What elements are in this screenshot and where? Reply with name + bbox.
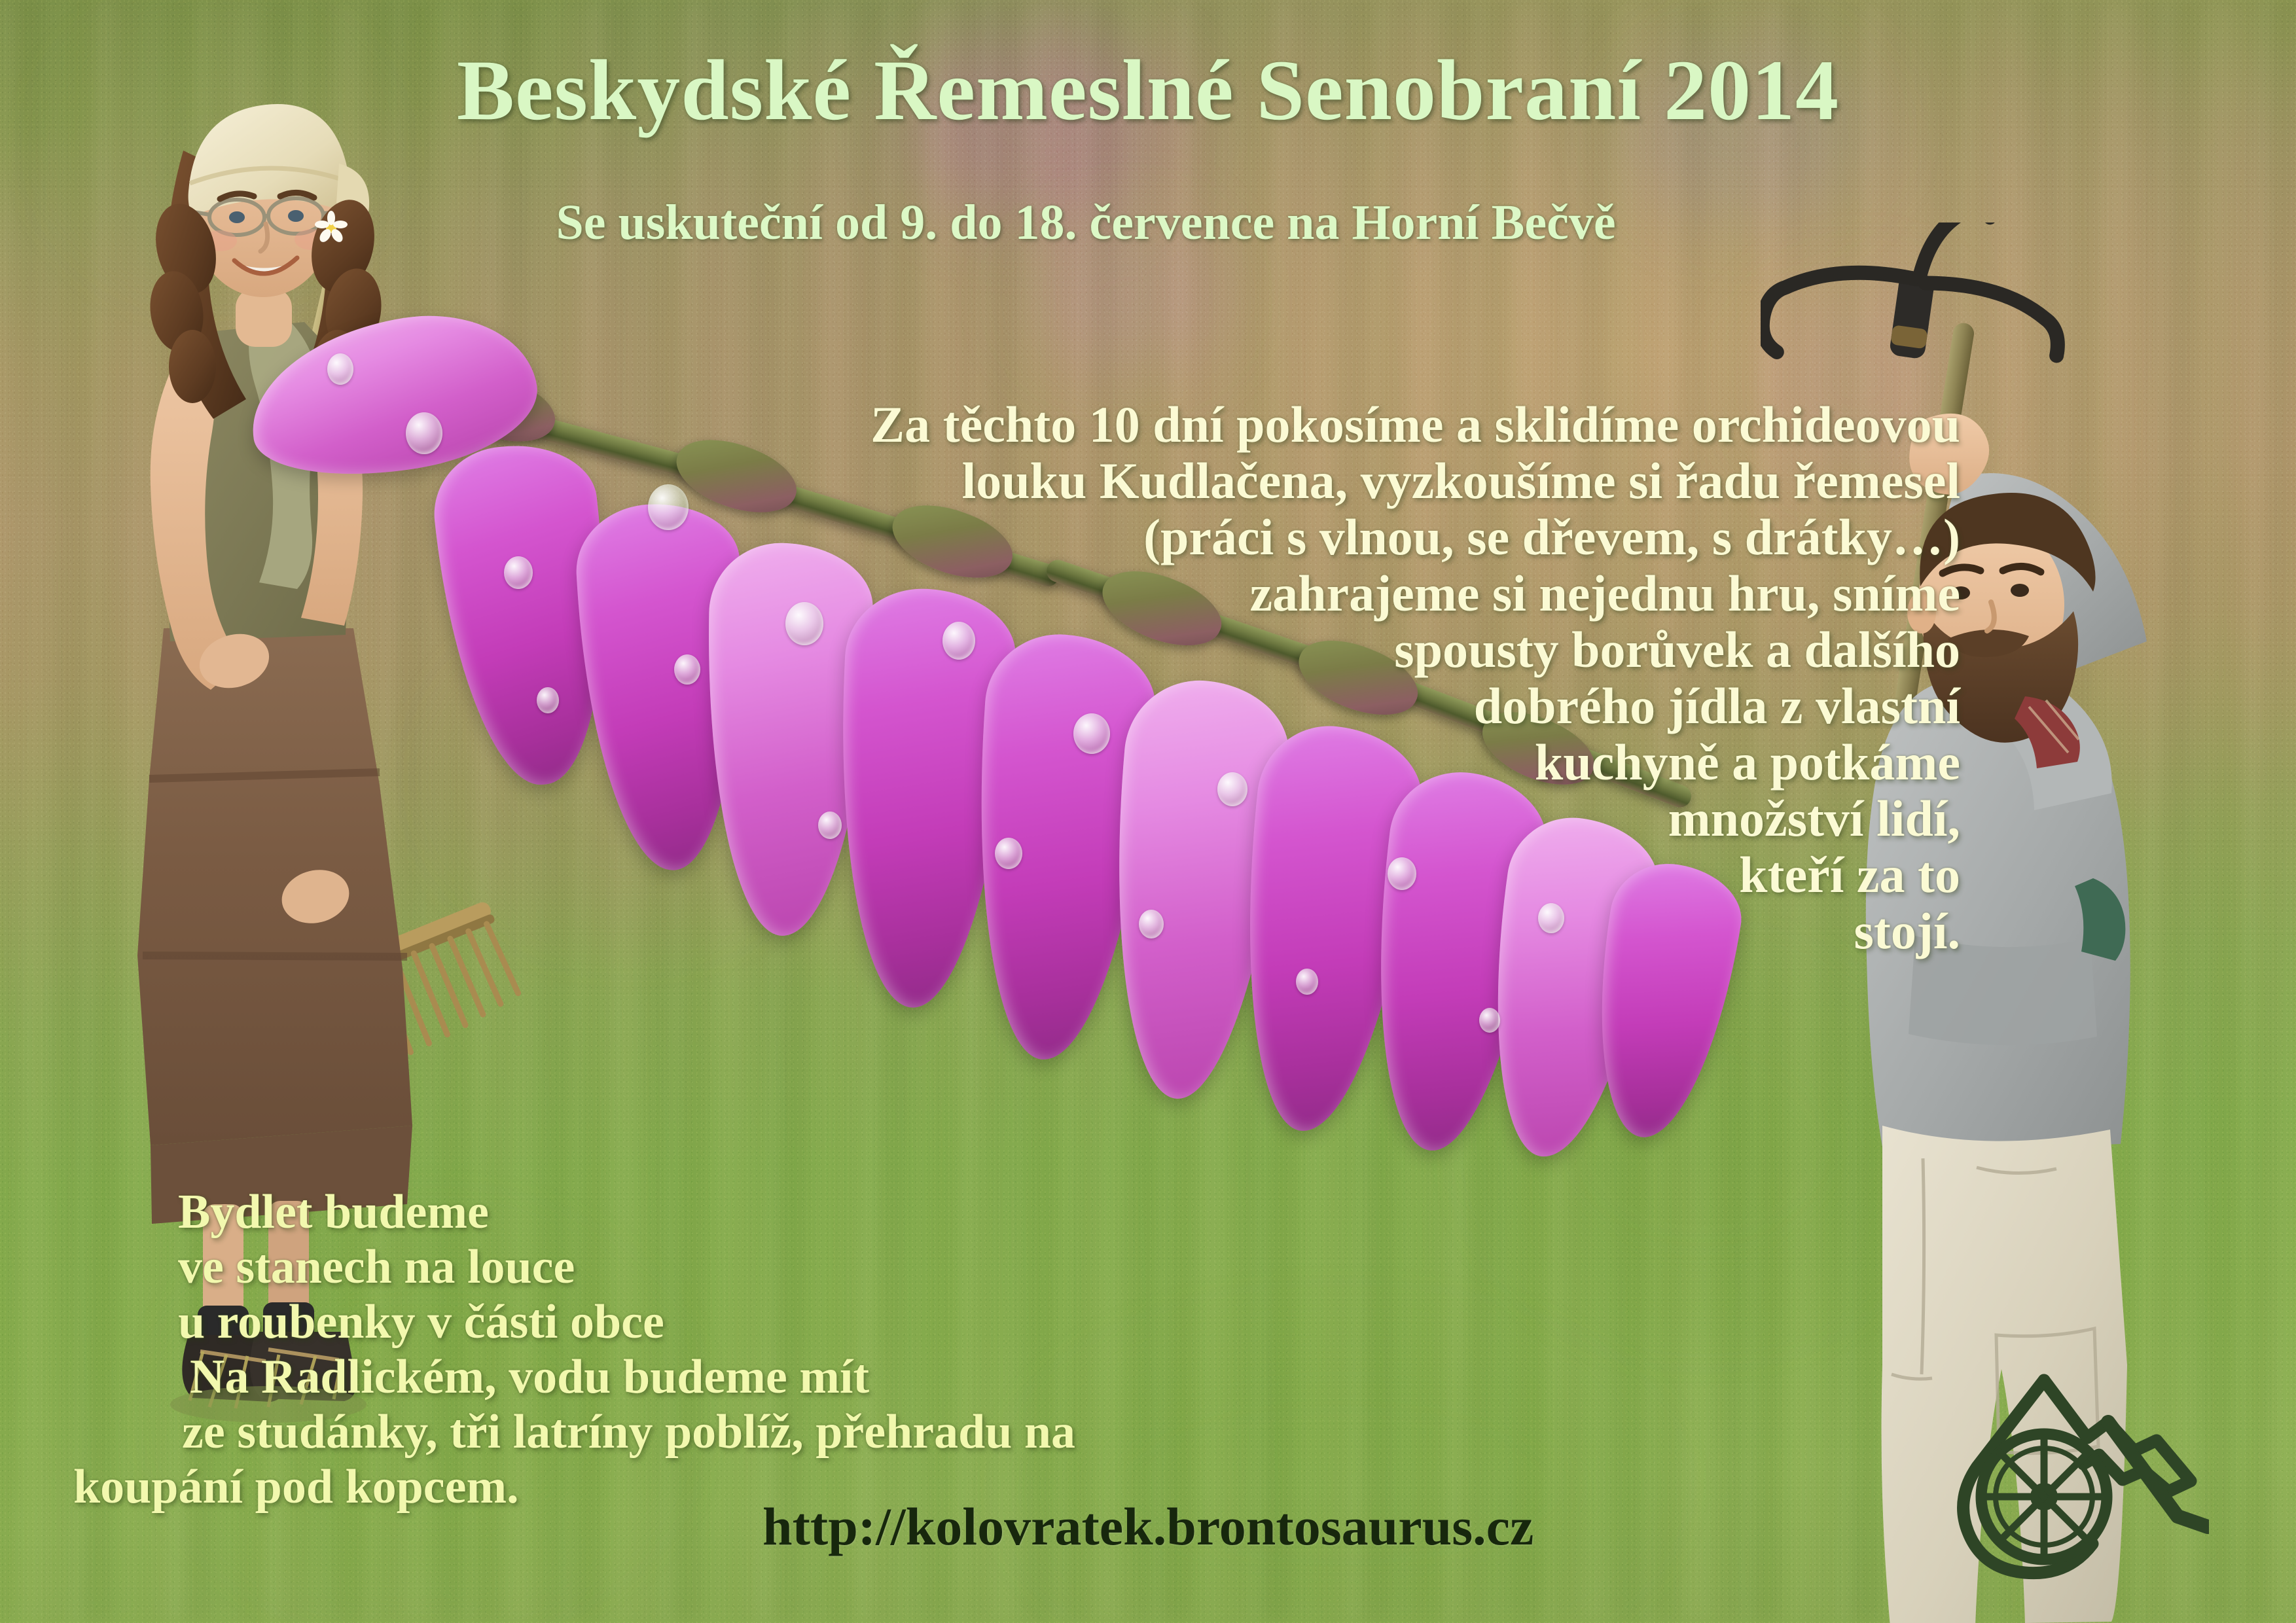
event-dates-subtitle: Se uskuteční od 9. do 18. července na Ho… [0, 198, 2234, 247]
description-line: spousty borůvek a dalšího [455, 622, 1960, 678]
description-line: louku Kudlačena, vyzkoušíme si řadu řeme… [455, 453, 1960, 509]
description-line: kteří za to [455, 847, 1960, 903]
poster-canvas: Beskydské Řemeslné Senobraní 2014 Se usk… [0, 0, 2296, 1623]
lodging-information-block: Bydlet budeme ve stanech na louce u roub… [178, 1185, 1075, 1514]
description-line: Za těchto 10 dní pokosíme a sklidíme orc… [455, 397, 1960, 453]
description-line: kuchyně a potkáme [455, 734, 1960, 791]
lodging-line: ze studánky, tři latríny poblíž, přehrad… [182, 1404, 1075, 1459]
kolovratek-brontosaurus-logo [1947, 1351, 2209, 1607]
lodging-line: ve stanech na louce [178, 1240, 1075, 1294]
spinning-wheel-mountain-logo [1947, 1351, 2209, 1607]
description-line: dobrého jídla z vlastní [455, 678, 1960, 734]
page-title: Beskydské Řemeslné Senobraní 2014 [0, 47, 2296, 134]
description-line: zahrajeme si nejednu hru, sníme [455, 565, 1960, 622]
lodging-line: u roubenky v části obce [178, 1294, 1075, 1349]
description-line: stojí. [455, 903, 1960, 959]
event-description-paragraph: Za těchto 10 dní pokosíme a sklidíme orc… [455, 397, 1960, 959]
spinning-wheel-icon [1981, 1434, 2107, 1560]
lodging-line: Na Radlickém, vodu budeme mít [190, 1349, 1075, 1404]
website-url-link[interactable]: http://kolovratek.brontosaurus.cz [762, 1500, 1534, 1554]
description-line: množství lidí, [455, 791, 1960, 847]
description-line: (práci s vlnou, se dřevem, s drátky…) [455, 509, 1960, 565]
lodging-line: Bydlet budeme [178, 1185, 1075, 1240]
